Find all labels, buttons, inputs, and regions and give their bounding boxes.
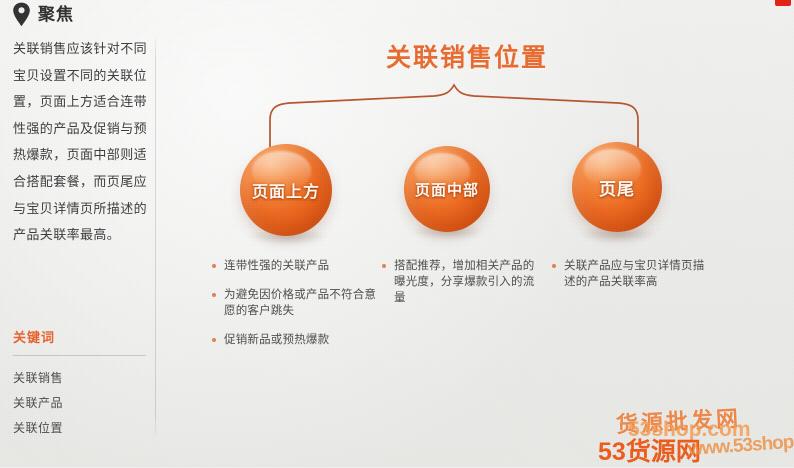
watermark-main: 53货源网 — [598, 432, 701, 468]
keyword-item[interactable]: 关联产品 — [13, 391, 147, 416]
panel-header: 聚焦 — [12, 2, 74, 27]
node-label: 页面中部 — [415, 179, 479, 200]
infographic-canvas: 聚焦 关联销售应该针对不同宝贝设置不同的关联位置，页面上方适合连带性强的产品及促… — [0, 0, 794, 467]
keywords-title: 关键词 — [13, 327, 55, 346]
panel-vertical-divider — [155, 33, 156, 440]
bullet-item: 连带性强的关联产品 — [212, 258, 378, 274]
watermark-url-overlay: www.53shop.com — [687, 429, 794, 461]
bullet-column-middle: 搭配推荐，增加相关产品的曝光度，分享爆款引入的流量 — [382, 258, 542, 319]
keyword-item[interactable]: 关联位置 — [13, 416, 147, 441]
main-title: 关联销售位置 — [0, 38, 794, 74]
bullet-item: 搭配推荐，增加相关产品的曝光度，分享爆款引入的流量 — [382, 258, 542, 306]
keywords-divider — [13, 355, 146, 356]
bullet-column-top: 连带性强的关联产品 为避免因价格或产品不符合意愿的客户跳失 促销新品或预热爆款 — [212, 258, 378, 361]
node-circle-middle[interactable]: 页面中部 — [404, 146, 490, 232]
bullet-item: 关联产品应与宝贝详情页描述的产品关联率高 — [552, 258, 712, 290]
node-label: 页面上方 — [252, 178, 320, 202]
bullet-column-bottom: 关联产品应与宝贝详情页描述的产品关联率高 — [552, 258, 712, 303]
keyword-item[interactable]: 关联销售 — [13, 366, 147, 391]
panel-title: 聚焦 — [38, 2, 74, 27]
node-circle-top[interactable]: 页面上方 — [240, 144, 332, 236]
node-label: 页尾 — [599, 175, 635, 200]
map-pin-icon — [12, 2, 31, 27]
top-red-marker — [775, 0, 791, 6]
bullet-item: 促销新品或预热爆款 — [212, 332, 378, 348]
bullet-item: 为避免因价格或产品不符合意愿的客户跳失 — [212, 287, 378, 319]
watermark-main-prefix: 53 — [598, 438, 626, 466]
watermark-main-cn: 货源网 — [626, 438, 701, 466]
keywords-list: 关联销售 关联产品 关联位置 — [13, 366, 147, 441]
watermark-cn-top: 货源批发网 — [615, 401, 742, 439]
node-circle-bottom[interactable]: 页尾 — [572, 142, 662, 232]
watermark-domain-top: 53shop.com — [628, 418, 751, 442]
